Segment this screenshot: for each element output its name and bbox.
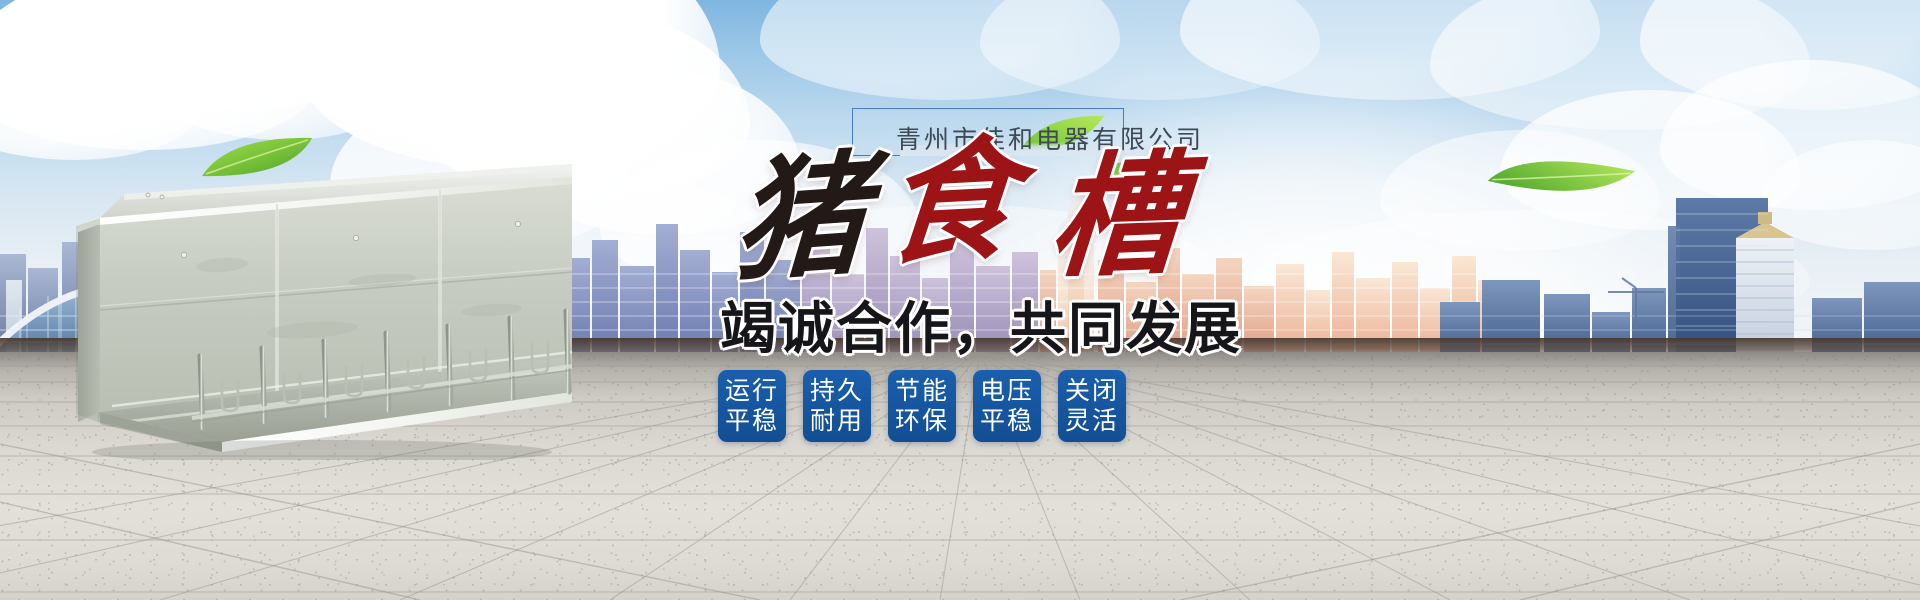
feature-badge-2-line2: 耐用 [810,406,864,437]
feature-badge-5-line2: 灵活 [1065,406,1119,437]
feature-badge-1-line1: 运行 [725,376,779,407]
feature-badge-4-line1: 电压 [980,376,1034,407]
feature-badge-1-line2: 平稳 [725,406,779,437]
feature-badge-3-line2: 环保 [895,406,949,437]
feature-badge-5[interactable]: 关闭 灵活 [1058,370,1126,442]
main-title: 猪 食 槽 [712,148,1412,298]
main-title-char-3: 槽 [1045,149,1186,286]
product-image-feeder [72,160,582,460]
feature-badge-1[interactable]: 运行 平稳 [718,370,786,442]
feature-badge-2[interactable]: 持久 耐用 [803,370,871,442]
feature-badge-list: 运行 平稳 持久 耐用 节能 环保 电压 平稳 关闭 灵活 [718,370,1126,442]
feature-badge-2-line1: 持久 [810,376,864,407]
leaf-decoration-left [198,132,318,184]
feature-badge-5-line1: 关闭 [1065,376,1119,407]
product-banner: 青州市佳和电器有限公司 猪 食 槽 竭诚合作，共同发展 运行 平稳 持久 耐用 … [0,0,1920,600]
banner-subtitle: 竭诚合作，共同发展 [720,284,1242,365]
feature-badge-3[interactable]: 节能 环保 [888,370,956,442]
feature-badge-4[interactable]: 电压 平稳 [973,370,1041,442]
feature-badge-4-line2: 平稳 [980,406,1034,437]
main-title-char-1: 猪 [731,149,870,291]
main-title-char-2: 食 [878,134,1021,274]
feature-badge-3-line1: 节能 [895,376,949,407]
